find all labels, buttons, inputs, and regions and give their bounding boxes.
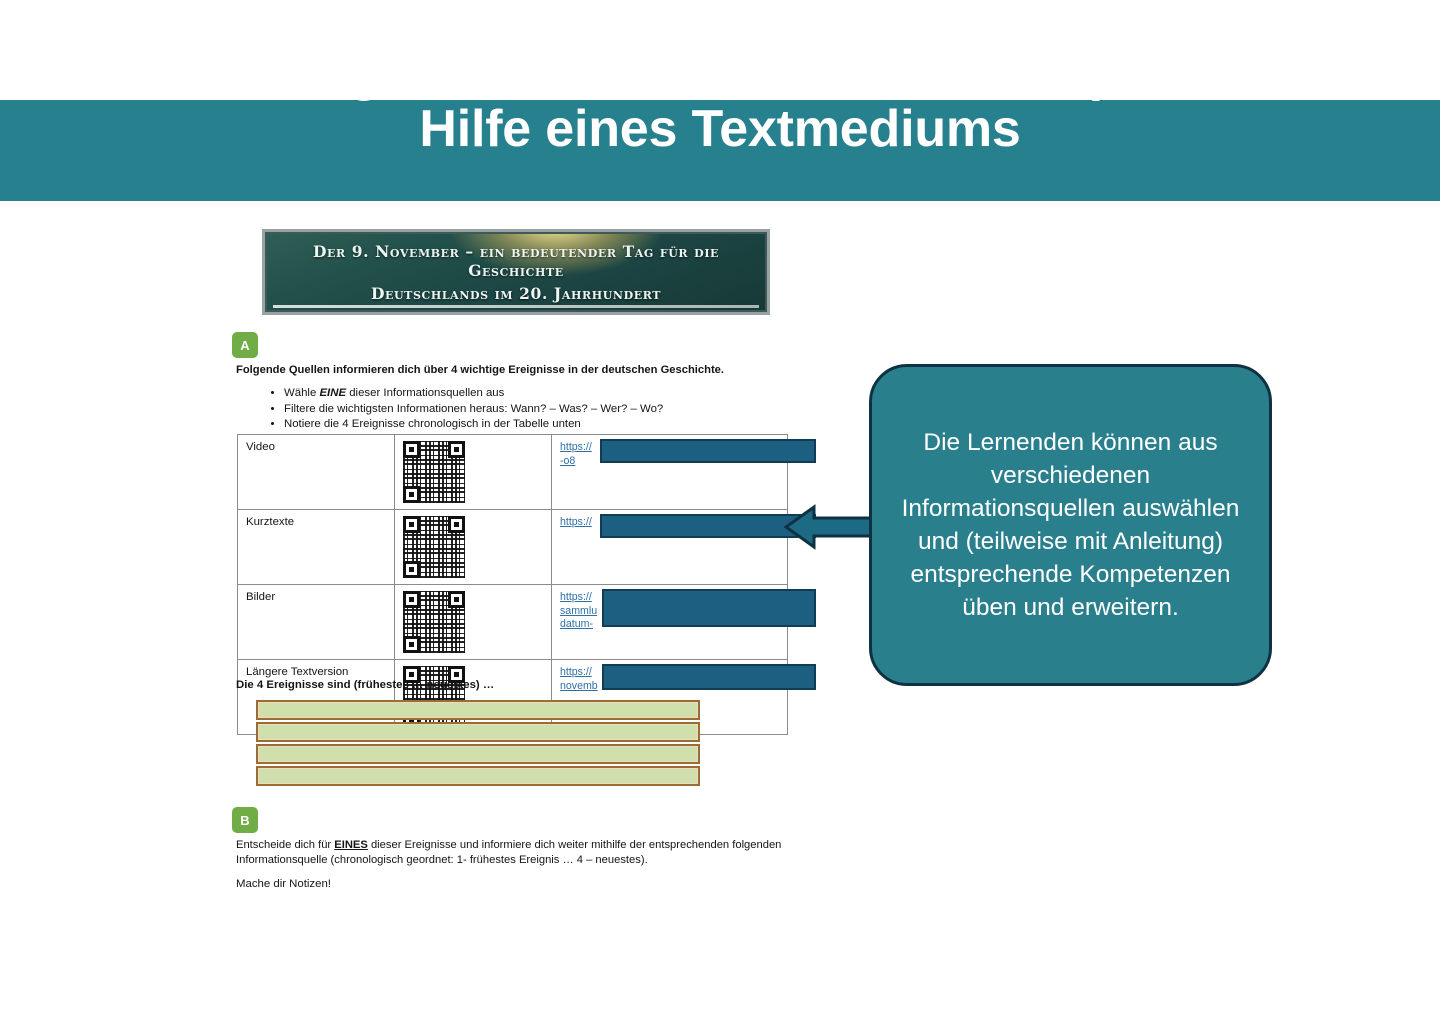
bullet-1-post: dieser Informationsquellen aus	[346, 387, 504, 399]
source-type-cell: Bilder	[238, 585, 395, 660]
event-answer-box[interactable]	[256, 766, 700, 786]
list-item: Notiere die 4 Ereignisse chronologisch i…	[284, 417, 824, 433]
worksheet-header-rule	[273, 305, 759, 308]
bullet-3-text: Notiere die 4 Ereignisse chronologisch i…	[284, 418, 581, 430]
qr-code-cell	[395, 510, 552, 585]
bullet-1-pre: Wähle	[284, 387, 319, 399]
source-link-cell: https:// sammlu datum-	[552, 585, 788, 660]
source-type-cell: Video	[238, 435, 395, 510]
section-badge-b: B	[232, 807, 258, 833]
worksheet-document: Der 9. November – ein bedeutender Tag fü…	[228, 222, 808, 902]
table-row: Bilder https:// sammlu datum-	[238, 585, 788, 660]
callout-bubble: Die Lernenden können aus verschiedenen I…	[869, 364, 1272, 686]
events-label: Die 4 Ereignisse sind (frühestes … neues…	[236, 678, 494, 693]
qr-code-cell	[395, 435, 552, 510]
section-b-pre: Entscheide dich für	[236, 839, 334, 851]
section-b-note: Mache dir Notizen!	[236, 877, 636, 892]
event-answer-box[interactable]	[256, 744, 700, 764]
table-row: Video https:// -o8	[238, 435, 788, 510]
qr-code-icon	[403, 591, 465, 653]
worksheet-header-line-2: Deutschlands im 20. Jahrhundert	[371, 282, 661, 305]
bullet-1-emphasis: EINE	[319, 387, 346, 399]
source-type-cell: Kurztexte	[238, 510, 395, 585]
worksheet-header-line-1: Der 9. November – ein bedeutender Tag fü…	[265, 240, 767, 282]
section-a-intro: Folgende Quellen informieren dich über 4…	[236, 363, 796, 378]
qr-code-icon	[403, 441, 465, 503]
source-link-cell: https://	[552, 510, 788, 585]
page-title: Darstellung verschiedener Informationsqu…	[60, 100, 1380, 157]
table-row: Kurztexte https://	[238, 510, 788, 585]
section-b-paragraph: Entscheide dich für EINES dieser Ereigni…	[236, 838, 784, 868]
list-item: Wähle EINE dieser Informationsquellen au…	[284, 386, 824, 402]
qr-code-icon	[403, 516, 465, 578]
redaction-bar	[600, 439, 816, 463]
redaction-bar	[602, 664, 816, 690]
bullet-2-text: Filtere die wichtigsten Informationen he…	[284, 403, 663, 415]
section-b-emphasis: EINES	[334, 839, 368, 851]
source-link-cell: https:// -o8	[552, 435, 788, 510]
event-answer-box[interactable]	[256, 722, 700, 742]
worksheet-header-image: Der 9. November – ein bedeutender Tag fü…	[262, 229, 770, 315]
slide-title-banner: Darstellung verschiedener Informationsqu…	[0, 100, 1440, 201]
qr-code-cell	[395, 585, 552, 660]
section-badge-a: A	[232, 332, 258, 358]
callout-text: Die Lernenden können aus verschiedenen I…	[898, 426, 1243, 624]
event-answer-boxes	[256, 700, 700, 788]
list-item: Filtere die wichtigsten Informationen he…	[284, 402, 824, 418]
section-a-bullet-list: Wähle EINE dieser Informationsquellen au…	[262, 386, 824, 433]
slide-title-clip: Darstellung verschiedener Informationsqu…	[0, 100, 1440, 201]
redaction-bar	[602, 589, 816, 627]
event-answer-box[interactable]	[256, 700, 700, 720]
